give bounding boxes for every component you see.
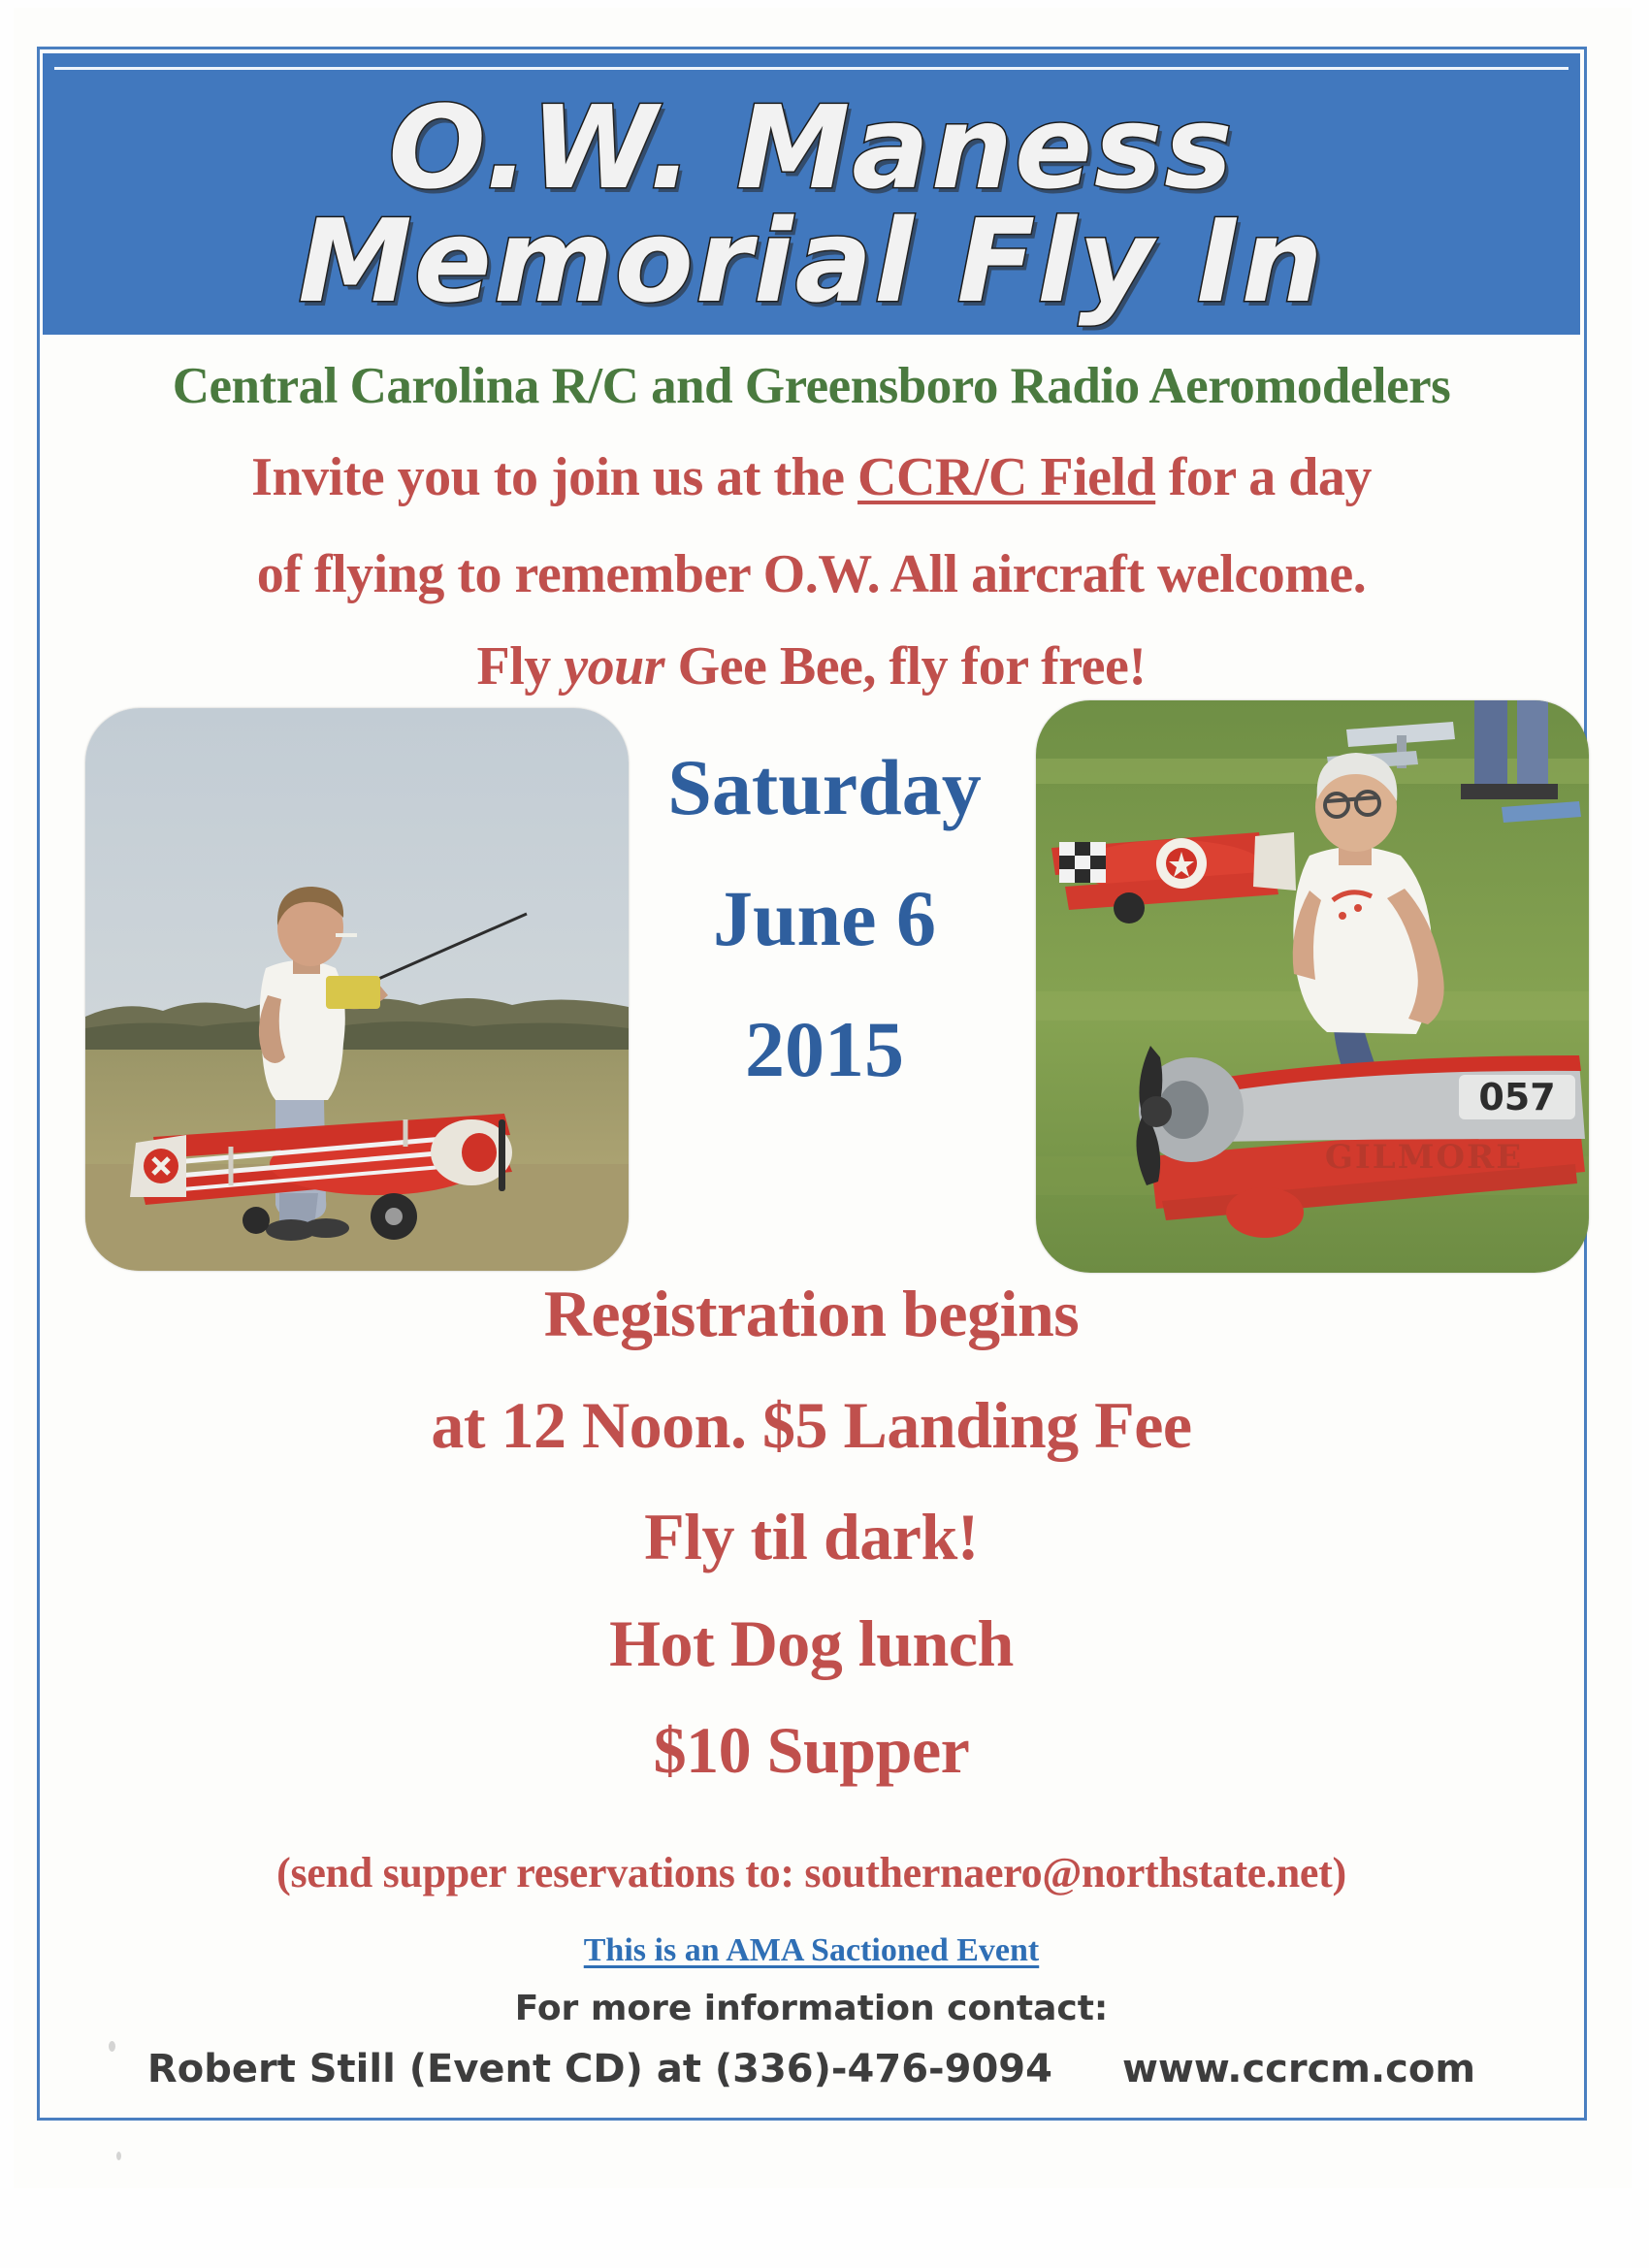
photo-left-artwork [85, 708, 629, 1271]
svg-text:GILMORE: GILMORE [1325, 1138, 1523, 1177]
registration-line-1: Registration begins [43, 1276, 1580, 1352]
invitation-your-emphasis: your [564, 636, 664, 697]
invitation-line-1: Invite you to join us at the CCR/C Field… [43, 446, 1580, 508]
invitation-line-1-after: for a day [1155, 447, 1372, 507]
club-names-line: Central Carolina R/C and Greensboro Radi… [43, 357, 1580, 415]
photo-man-with-gilmore-geebee: 057 GILMORE [1036, 700, 1589, 1273]
title-line-1: O.W. Maness [43, 90, 1580, 205]
invitation-line-1-before: Invite you to join us at the [251, 447, 857, 507]
photo-man-with-red-biplane [85, 708, 629, 1271]
event-day: Saturday [621, 742, 1028, 833]
event-month-day: June 6 [621, 873, 1028, 964]
ama-sanctioned-text: This is an AMA Sactioned Event [584, 1932, 1039, 1968]
contact-name-phone: Robert Still (Event CD) at (336)-476-909… [147, 2047, 1052, 2091]
scanned-page: O.W. Maness Memorial Fly In Central Caro… [0, 0, 1649, 2268]
supper-reservations-line: (send supper reservations to: southernae… [43, 1848, 1580, 1897]
scan-speck [116, 2152, 121, 2160]
photo-right-artwork: 057 GILMORE [1036, 700, 1589, 1273]
contact-heading: For more information contact: [43, 1989, 1580, 2028]
ama-sanctioned-line: This is an AMA Sactioned Event [43, 1932, 1580, 1969]
title-banner: O.W. Maness Memorial Fly In [43, 53, 1580, 335]
invitation-line-2: of flying to remember O.W. All aircraft … [43, 543, 1580, 605]
invitation-line-3-after: Gee Bee, fly for free! [664, 636, 1146, 697]
ccrc-field-emphasis: CCR/C Field [857, 447, 1155, 507]
scan-speck [109, 2041, 115, 2052]
registration-line-4: Hot Dog lunch [43, 1605, 1580, 1682]
svg-text:057: 057 [1478, 1076, 1555, 1118]
registration-line-2: at 12 Noon. $5 Landing Fee [43, 1387, 1580, 1464]
invitation-line-3: Fly your Gee Bee, fly for free! [43, 635, 1580, 697]
contact-website: www.ccrcm.com [1122, 2047, 1475, 2091]
registration-line-5: $10 Supper [43, 1712, 1580, 1789]
banner-inner-rule [54, 67, 1568, 70]
event-year: 2015 [621, 1004, 1028, 1095]
title-line-2: Memorial Fly In [43, 204, 1580, 318]
registration-line-3: Fly til dark! [43, 1499, 1580, 1575]
invitation-line-3-before: Fly [477, 636, 565, 697]
contact-details: Robert Still (Event CD) at (336)-476-909… [43, 2047, 1580, 2091]
